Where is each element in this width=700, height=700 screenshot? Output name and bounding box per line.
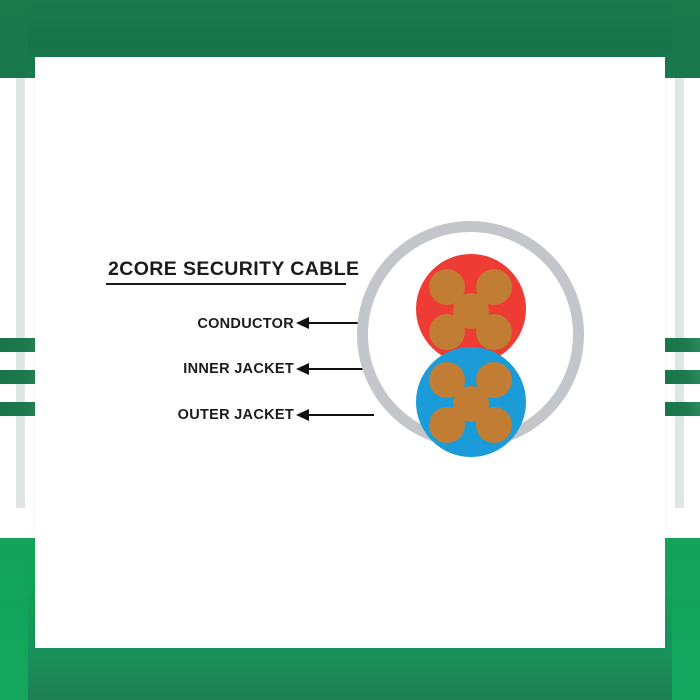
cable-diagram-screenshot: 2CORE SECURITY CABLE CONDUCTOR INNER JAC… (0, 0, 700, 700)
frame-right-guide (675, 78, 684, 508)
frame-left-guide (16, 78, 25, 508)
cable-cross-section (357, 221, 584, 448)
callout-label-inner-jacket: INNER JACKET (183, 361, 294, 377)
page-title: 2CORE SECURITY CABLE (108, 258, 359, 281)
title-underline (106, 283, 346, 285)
conductor-strand (453, 293, 489, 329)
inner-jacket-blue-core (416, 347, 526, 457)
callout-label-conductor: CONDUCTOR (197, 316, 294, 332)
conductor-strand (453, 386, 489, 422)
callout-label-outer-jacket: OUTER JACKET (178, 407, 294, 423)
